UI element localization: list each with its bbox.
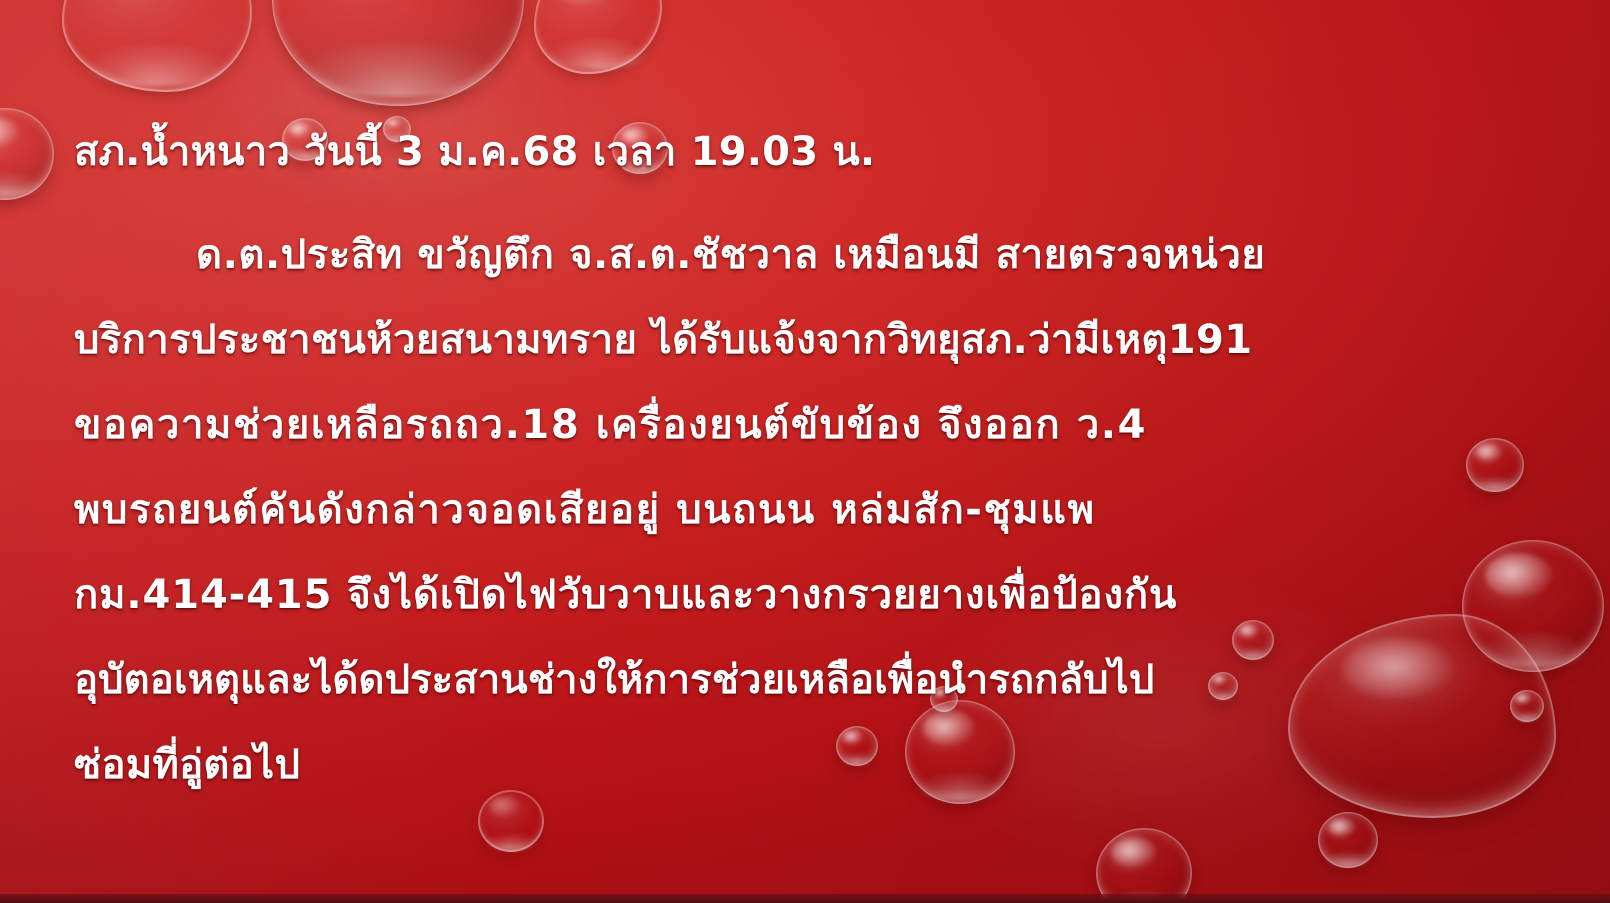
body-line-1: ด.ต.ประสิท ขวัญตึก จ.ส.ต.ชัชวาล เหมือนมี… <box>0 228 1610 282</box>
slide-canvas: สภ.น้ำหนาว วันนี้ 3 ม.ค.68 เวลา 19.03 น.… <box>0 0 1610 903</box>
body-line-7: ซ่อมที่อู่ต่อไป <box>0 738 1610 792</box>
body-line-3: ขอความช่วยเหลือรถถว.18 เครื่องยนต์ขับข้อ… <box>0 398 1610 452</box>
body-line-5: กม.414-415 จึงได้เปิดไฟวับวาบและวางกรวยย… <box>0 568 1610 622</box>
slide-bottom-edge-band <box>0 894 1610 903</box>
body-line-6: อุบัตอเหตุและได้ดประสานช่างให้การช่วยเหล… <box>0 653 1610 707</box>
body-line-2: บริการประชาชนห้วยสนามทราย ได้รับแจ้งจากว… <box>0 313 1610 367</box>
body-line-4: พบรถยนต์คันดังกล่าวจอดเสียอยู่ บนถนน หล่… <box>0 483 1610 537</box>
slide-title: สภ.น้ำหนาว วันนี้ 3 ม.ค.68 เวลา 19.03 น. <box>0 125 1610 179</box>
slide-text-content: สภ.น้ำหนาว วันนี้ 3 ม.ค.68 เวลา 19.03 น.… <box>0 0 1610 903</box>
